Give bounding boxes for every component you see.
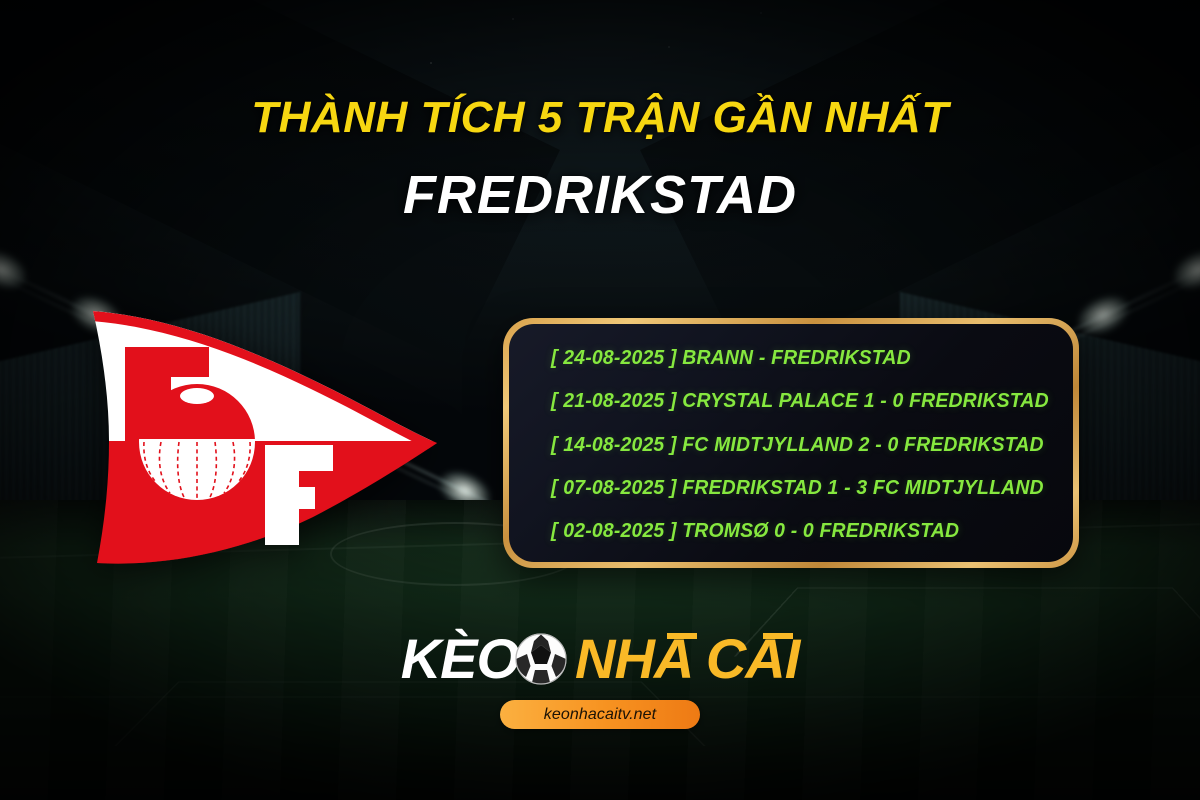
macron-a-1 <box>667 633 697 639</box>
soccer-ball-icon <box>515 633 567 685</box>
page-title: THÀNH TÍCH 5 TRẬN GẦN NHẤT <box>0 96 1200 140</box>
website-url-text: keonhacaitv.net <box>544 706 656 724</box>
match-row: [ 02-08-2025 ] TROMSØ 0 - 0 FREDRIKSTAD <box>551 521 1057 542</box>
recent-matches-list: [ 24-08-2025 ] BRANN - FREDRIKSTAD [ 21-… <box>509 324 1073 562</box>
match-row: [ 07-08-2025 ] FREDRIKSTAD 1 - 3 FC MIDT… <box>551 478 1057 499</box>
team-name: FREDRIKSTAD <box>0 168 1200 222</box>
brand-word-keo-text: KÈO <box>401 627 519 690</box>
match-row: [ 14-08-2025 ] FC MIDTJYLLAND 2 - 0 FRED… <box>551 435 1057 456</box>
match-row: [ 24-08-2025 ] BRANN - FREDRIKSTAD <box>551 348 1057 369</box>
club-crest <box>75 295 455 580</box>
brand-word-nhacai: NHA CAI <box>575 631 799 687</box>
macron-a-2 <box>763 633 793 639</box>
brand-word-keo: KÈO <box>401 631 519 687</box>
fredrikstad-pennant-icon <box>75 295 455 580</box>
crest-globe-icon <box>139 384 255 500</box>
site-branding: KÈO NHA CAI keonhacaitv.net <box>0 628 1200 729</box>
recent-matches-panel: [ 24-08-2025 ] BRANN - FREDRIKSTAD [ 21-… <box>503 318 1079 568</box>
header-block: THÀNH TÍCH 5 TRẬN GẦN NHẤT FREDRIKSTAD <box>0 96 1200 222</box>
match-row: [ 21-08-2025 ] CRYSTAL PALACE 1 - 0 FRED… <box>551 391 1057 412</box>
website-url-pill[interactable]: keonhacaitv.net <box>500 700 700 729</box>
